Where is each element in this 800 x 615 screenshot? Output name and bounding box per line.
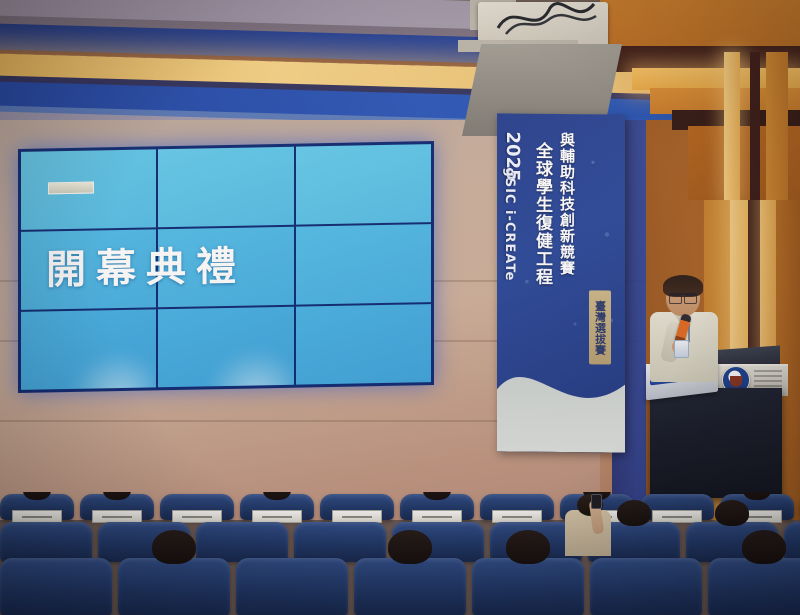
seat-back [784,522,800,562]
corner-band [600,0,800,52]
podium-control-panel[interactable] [754,370,782,388]
seat-back [196,522,288,562]
seat-back [236,558,348,615]
screen-light-sweep [62,344,157,390]
projector-cables-icon [492,0,602,40]
attendee-head [617,500,651,526]
attendee-torso [565,510,611,556]
video-panel [21,229,156,310]
screen-light-sweep [199,342,294,388]
list-item[interactable] [708,558,800,615]
attendee-head [715,500,749,526]
seat-back [294,522,386,562]
podium-body [650,388,782,498]
seat-back [708,558,800,615]
banner-title-line-2: 與輔助科技創新競賽 [559,132,574,276]
video-panel [296,144,431,225]
attendee-with-phone [565,494,611,556]
list-item[interactable] [196,522,288,562]
list-item[interactable] [0,522,92,562]
banner-region-badge-text: 臺灣選拔賽 [595,300,606,355]
list-item[interactable] [160,494,234,520]
audience-seating [0,492,800,615]
seat-row-near [0,558,800,615]
phone-icon [591,494,602,509]
video-panel [158,307,293,388]
screen-logo-placeholder [48,182,94,195]
seat-row-far [0,494,800,520]
list-item[interactable] [0,494,74,520]
list-item[interactable] [320,494,394,520]
list-item[interactable] [472,558,584,615]
attendee-head [742,530,786,564]
list-item[interactable] [400,494,474,520]
video-panel [296,304,431,385]
list-item[interactable] [294,522,386,562]
list-item[interactable] [640,494,714,520]
banner-region-badge: 臺灣選拔賽 [589,290,611,364]
list-item[interactable] [354,558,466,615]
video-panel [296,224,431,305]
list-item[interactable] [80,494,154,520]
seat-back [472,558,584,615]
list-item[interactable] [590,558,702,615]
seat-back [590,558,702,615]
seat-back [354,558,466,615]
seat-back [0,522,92,562]
corner-vertical-dark [750,52,760,200]
event-banner: 2025 gSIC i-CREATe 全球學生復健工程 與輔助科技創新競賽 臺灣… [497,113,625,452]
auditorium-photo: 開幕典禮 2025 gSIC i-CREATe 全球學生復健工程 與輔助科技創新… [0,0,800,615]
banner-event-code: gSIC i-CREATe [503,167,516,281]
corner-vertical-light [724,52,740,200]
attendee-head [506,530,550,564]
video-panel [21,309,156,390]
ceiling-corner-detail [600,0,800,200]
video-wall[interactable]: 開幕典禮 [18,141,434,393]
corner-vertical-amber [766,52,788,200]
seat-back [118,558,230,615]
list-item[interactable] [240,494,314,520]
name-badge [674,340,689,358]
attendee-head [152,530,196,564]
seat-back [0,558,112,615]
attendee-head [388,530,432,564]
list-item[interactable] [0,558,112,615]
list-item[interactable] [480,494,554,520]
presenter [648,278,720,382]
list-item[interactable] [236,558,348,615]
list-item[interactable] [784,522,800,562]
video-panel [158,147,293,228]
list-item[interactable] [118,558,230,615]
banner-title-line-1: 全球學生復健工程 [533,142,550,286]
glasses-icon [669,293,697,302]
video-panel [158,227,293,308]
